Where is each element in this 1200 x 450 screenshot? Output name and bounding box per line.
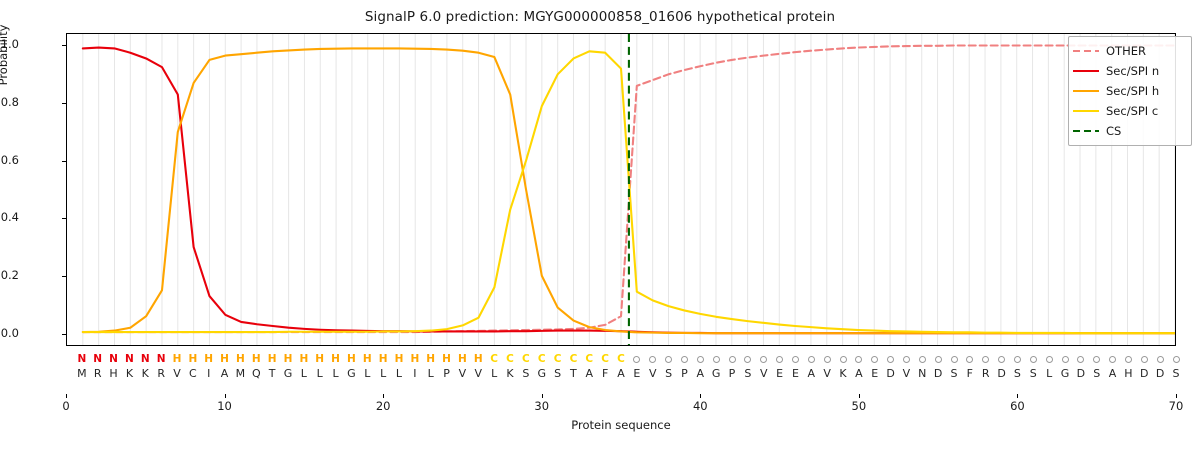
region-circle-icon <box>855 356 862 363</box>
chart-curves <box>67 34 1175 345</box>
legend-swatch-icon <box>1073 45 1099 57</box>
sequence-residue: S <box>1167 366 1185 382</box>
y-axis-label: Probability <box>0 0 10 135</box>
x-tick-label: 30 <box>522 399 562 413</box>
y-tick-label: 0.8 <box>0 95 19 109</box>
region-circle-icon <box>1173 356 1180 363</box>
legend-label: Sec/SPI h <box>1106 84 1159 98</box>
region-circle-icon <box>681 356 688 363</box>
region-circle-icon <box>776 356 783 363</box>
x-tick-label: 10 <box>205 399 245 413</box>
legend-item-cs[interactable]: CS <box>1073 121 1186 141</box>
x-axis-label: Protein sequence <box>66 418 1176 432</box>
x-tick-mark <box>383 394 384 398</box>
legend-item-sec-spi-h[interactable]: Sec/SPI h <box>1073 81 1186 101</box>
region-circle-icon <box>840 356 847 363</box>
region-circle-icon <box>887 356 894 363</box>
region-circle-icon <box>1030 356 1037 363</box>
region-circle-icon <box>951 356 958 363</box>
region-circle-icon <box>808 356 815 363</box>
region-circle-icon <box>792 356 799 363</box>
region-circle-icon <box>649 356 656 363</box>
region-circle-icon <box>871 356 878 363</box>
region-circle-icon <box>633 356 640 363</box>
region-circle-icon <box>1125 356 1132 363</box>
region-circle-icon <box>919 356 926 363</box>
legend: OTHERSec/SPI nSec/SPI hSec/SPI cCS <box>1068 36 1192 146</box>
legend-label: Sec/SPI n <box>1106 64 1159 78</box>
x-tick-label: 20 <box>363 399 403 413</box>
x-tick-label: 40 <box>680 399 720 413</box>
page-title: SignalP 6.0 prediction: MGYG000000858_01… <box>0 9 1200 25</box>
region-circle-icon <box>935 356 942 363</box>
x-tick-mark <box>542 394 543 398</box>
region-circle-icon <box>1014 356 1021 363</box>
signalp-prediction-figure: SignalP 6.0 prediction: MGYG000000858_01… <box>0 0 1200 450</box>
legend-item-sec-spi-c[interactable]: Sec/SPI c <box>1073 101 1186 121</box>
y-tick-label: 1.0 <box>0 37 19 51</box>
region-circle-icon <box>665 356 672 363</box>
x-tick-label: 50 <box>839 399 879 413</box>
region-circle-icon <box>713 356 720 363</box>
y-tick-label: 0.0 <box>0 326 19 340</box>
x-tick-mark <box>66 394 67 398</box>
legend-swatch-icon <box>1073 85 1099 97</box>
region-circle-icon <box>966 356 973 363</box>
region-circle-icon <box>1109 356 1116 363</box>
region-circle-icon <box>998 356 1005 363</box>
region-circle-icon <box>729 356 736 363</box>
y-tick-label: 0.6 <box>0 153 19 167</box>
region-marker-o <box>1167 351 1185 367</box>
legend-label: OTHER <box>1106 44 1146 58</box>
x-tick-label: 0 <box>46 399 86 413</box>
region-circle-icon <box>982 356 989 363</box>
x-tick-mark <box>1176 394 1177 398</box>
region-circle-icon <box>903 356 910 363</box>
x-tick-label: 60 <box>997 399 1037 413</box>
legend-item-sec-spi-n[interactable]: Sec/SPI n <box>1073 61 1186 81</box>
x-tick-label: 70 <box>1156 399 1196 413</box>
legend-swatch-icon <box>1073 125 1099 137</box>
legend-label: Sec/SPI c <box>1106 104 1158 118</box>
legend-swatch-icon <box>1073 105 1099 117</box>
region-circle-icon <box>697 356 704 363</box>
legend-swatch-icon <box>1073 65 1099 77</box>
region-circle-icon <box>744 356 751 363</box>
plot-area <box>66 33 1176 346</box>
region-circle-icon <box>824 356 831 363</box>
x-tick-mark <box>1017 394 1018 398</box>
y-tick-label: 0.4 <box>0 210 19 224</box>
x-tick-mark <box>700 394 701 398</box>
region-circle-icon <box>1046 356 1053 363</box>
region-circle-icon <box>1093 356 1100 363</box>
legend-label: CS <box>1106 124 1121 138</box>
x-tick-mark <box>859 394 860 398</box>
x-tick-mark <box>225 394 226 398</box>
y-tick-label: 0.2 <box>0 268 19 282</box>
region-circle-icon <box>1062 356 1069 363</box>
legend-item-other[interactable]: OTHER <box>1073 41 1186 61</box>
region-circle-icon <box>1077 356 1084 363</box>
region-circle-icon <box>1157 356 1164 363</box>
region-circle-icon <box>1141 356 1148 363</box>
region-circle-icon <box>760 356 767 363</box>
